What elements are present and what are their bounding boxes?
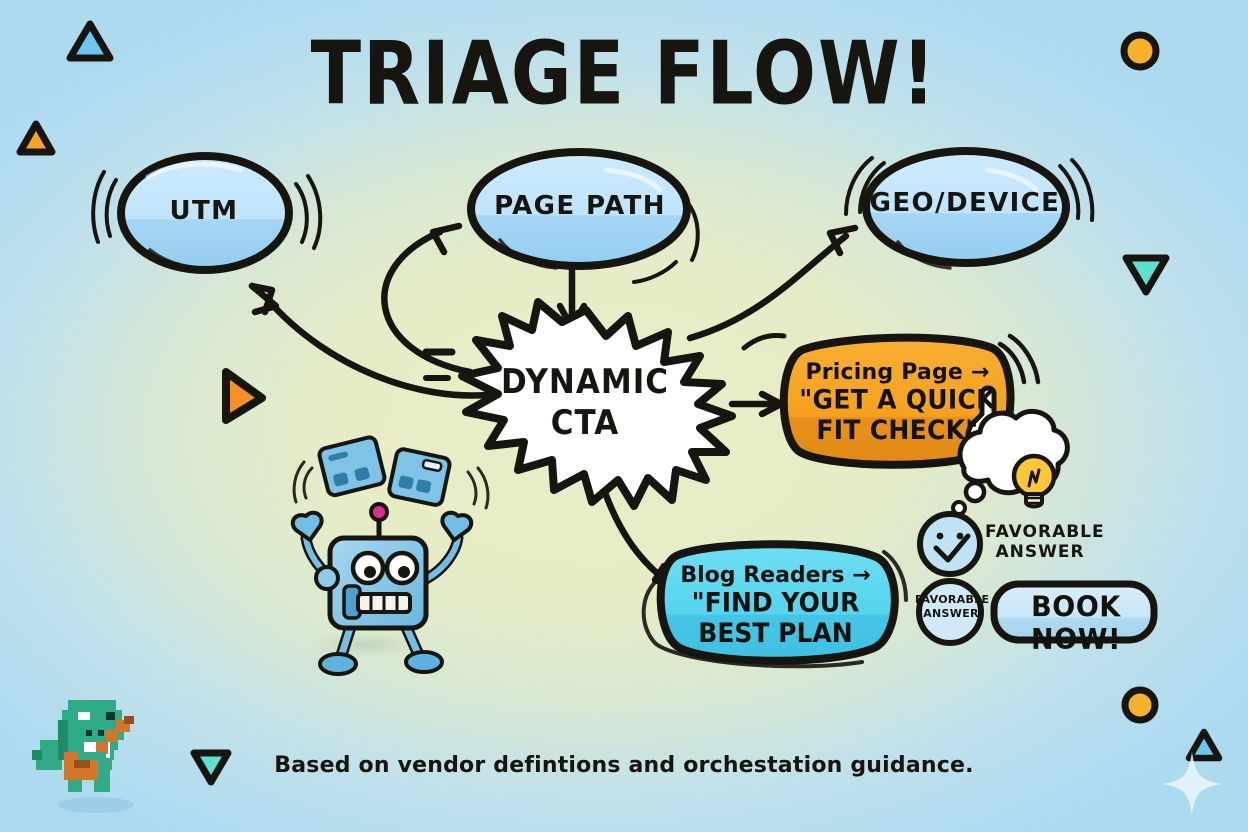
starburst-label: DYNAMIC CTA [470,365,700,441]
node-label-geo-device: GEO/DEVICE [865,190,1065,217]
button-blog-label[interactable]: Blog Readers → "FIND YOUR BEST PLAN [668,563,883,647]
pricing-line2: "GET A QUICK FIT CHECK" [795,385,1000,446]
page-title: TRIAGE FLOW! [0,29,1248,121]
blog-line2: "FIND YOUR BEST PLAN [668,588,883,649]
favorable-answer-label: FAVORABLE ANSWER [985,523,1095,562]
starburst-label-line1: DYNAMIC [501,362,669,402]
book-now-label[interactable]: BOOK NOW! [996,591,1156,656]
starburst-label-line2: CTA [470,405,700,441]
smiley-check-icon [920,514,980,574]
node-label-utm: UTM [124,198,284,225]
favorable-answer-badge-label: FAVORABLE ANSWER [915,593,987,621]
blog-line1: Blog Readers → [680,563,870,588]
node-label-page-path: PAGE PATH [470,193,690,220]
footer-caption: Based on vendor defintions and orchestat… [0,753,1248,778]
button-pricing-label[interactable]: Pricing Page → "GET A QUICK FIT CHECK" [795,360,1000,444]
pricing-line1: Pricing Page → [805,360,989,385]
lightbulb-idea-icon [1014,456,1054,507]
diagram-canvas: TRIAGE FLOW! UTM PAGE PATH GEO/DEVICE DY… [0,0,1248,832]
juggling-robot-mascot [293,436,488,674]
